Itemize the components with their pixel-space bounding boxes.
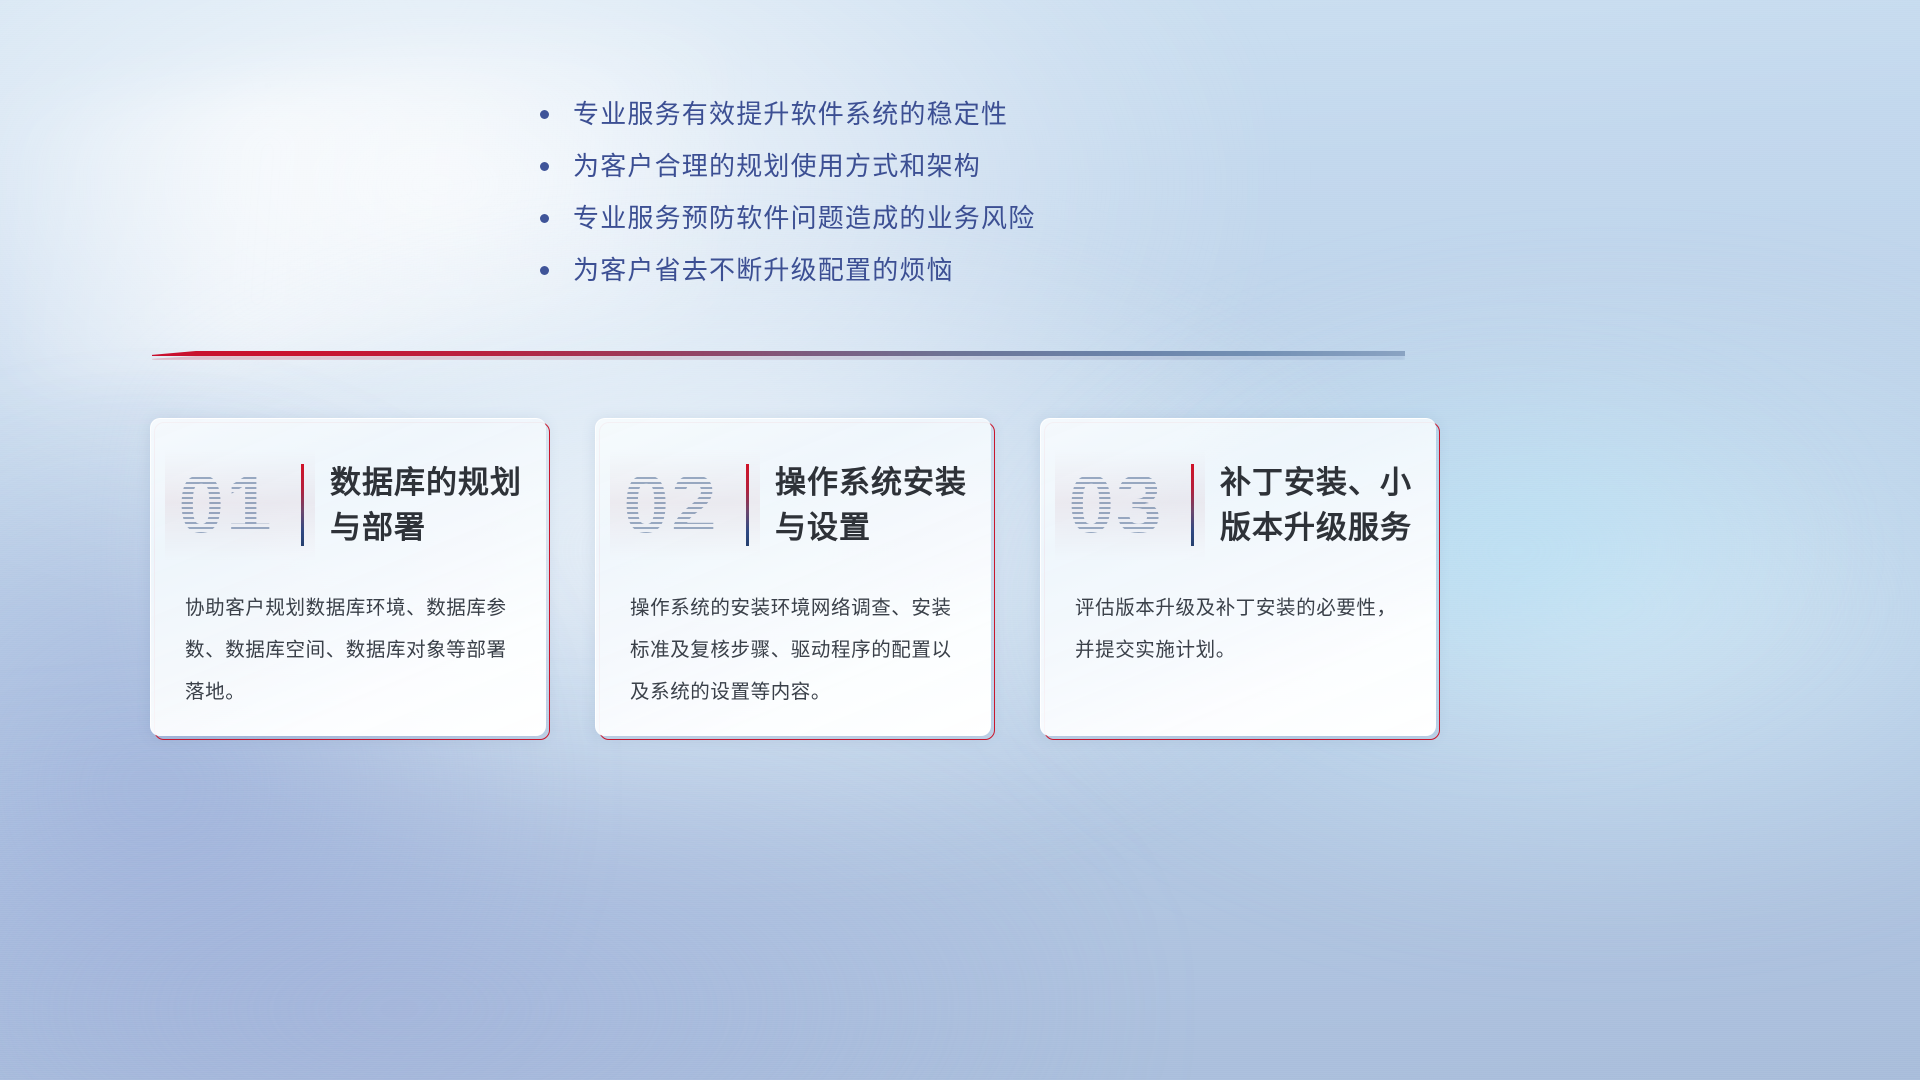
card-surface: 01 数据库的规划 与部署 协助客户规划数据库环境、数据库参数、数据库空间、数据… [150,418,546,736]
bullet-dot-icon [540,162,549,171]
divider-sheen [152,356,1405,360]
card-divider-bar [301,464,304,546]
card-surface: 03 补丁安装、小 版本升级服务 评估版本升级及补丁安装的必要性，并提交实施计划… [1040,418,1436,736]
card-header: 03 补丁安装、小 版本升级服务 [1041,445,1436,565]
card-divider-bar [1191,464,1194,546]
service-card-row: 01 数据库的规划 与部署 协助客户规划数据库环境、数据库参数、数据库空间、数据… [150,418,1440,740]
card-title: 补丁安装、小 版本升级服务 [1220,460,1412,550]
bullet-dot-icon [540,214,549,223]
service-card-01[interactable]: 01 数据库的规划 与部署 协助客户规划数据库环境、数据库参数、数据库空间、数据… [150,418,550,740]
card-header: 01 数据库的规划 与部署 [151,445,546,565]
benefits-bullet-list: 专业服务有效提升软件系统的稳定性 为客户合理的规划使用方式和架构 专业服务预防软… [540,88,1300,296]
card-divider-bar [746,464,749,546]
card-description: 评估版本升级及补丁安装的必要性，并提交实施计划。 [1075,587,1407,671]
bullet-text: 为客户省去不断升级配置的烦恼 [573,244,954,296]
card-number: 02 [596,446,746,564]
list-item: 专业服务有效提升软件系统的稳定性 [540,88,1300,140]
section-divider [152,347,1405,365]
card-header: 02 操作系统安装 与设置 [596,445,991,565]
bullet-dot-icon [540,266,549,275]
bullet-text: 专业服务有效提升软件系统的稳定性 [573,88,1008,140]
card-title: 数据库的规划 与部署 [330,460,522,550]
card-title: 操作系统安装 与设置 [775,460,967,550]
card-surface: 02 操作系统安装 与设置 操作系统的安装环境网络调查、安装标准及复核步骤、驱动… [595,418,991,736]
bullet-dot-icon [540,110,549,119]
list-item: 专业服务预防软件问题造成的业务风险 [540,192,1300,244]
card-number: 03 [1041,446,1191,564]
bullet-text: 专业服务预防软件问题造成的业务风险 [573,192,1035,244]
list-item: 为客户合理的规划使用方式和架构 [540,140,1300,192]
list-item: 为客户省去不断升级配置的烦恼 [540,244,1300,296]
card-description: 操作系统的安装环境网络调查、安装标准及复核步骤、驱动程序的配置以及系统的设置等内… [630,587,962,713]
service-card-02[interactable]: 02 操作系统安装 与设置 操作系统的安装环境网络调查、安装标准及复核步骤、驱动… [595,418,995,740]
card-number: 01 [151,446,301,564]
bullet-text: 为客户合理的规划使用方式和架构 [573,140,981,192]
service-card-03[interactable]: 03 补丁安装、小 版本升级服务 评估版本升级及补丁安装的必要性，并提交实施计划… [1040,418,1440,740]
divider-gradient-bar [152,351,1405,356]
card-description: 协助客户规划数据库环境、数据库参数、数据库空间、数据库对象等部署落地。 [185,587,517,713]
